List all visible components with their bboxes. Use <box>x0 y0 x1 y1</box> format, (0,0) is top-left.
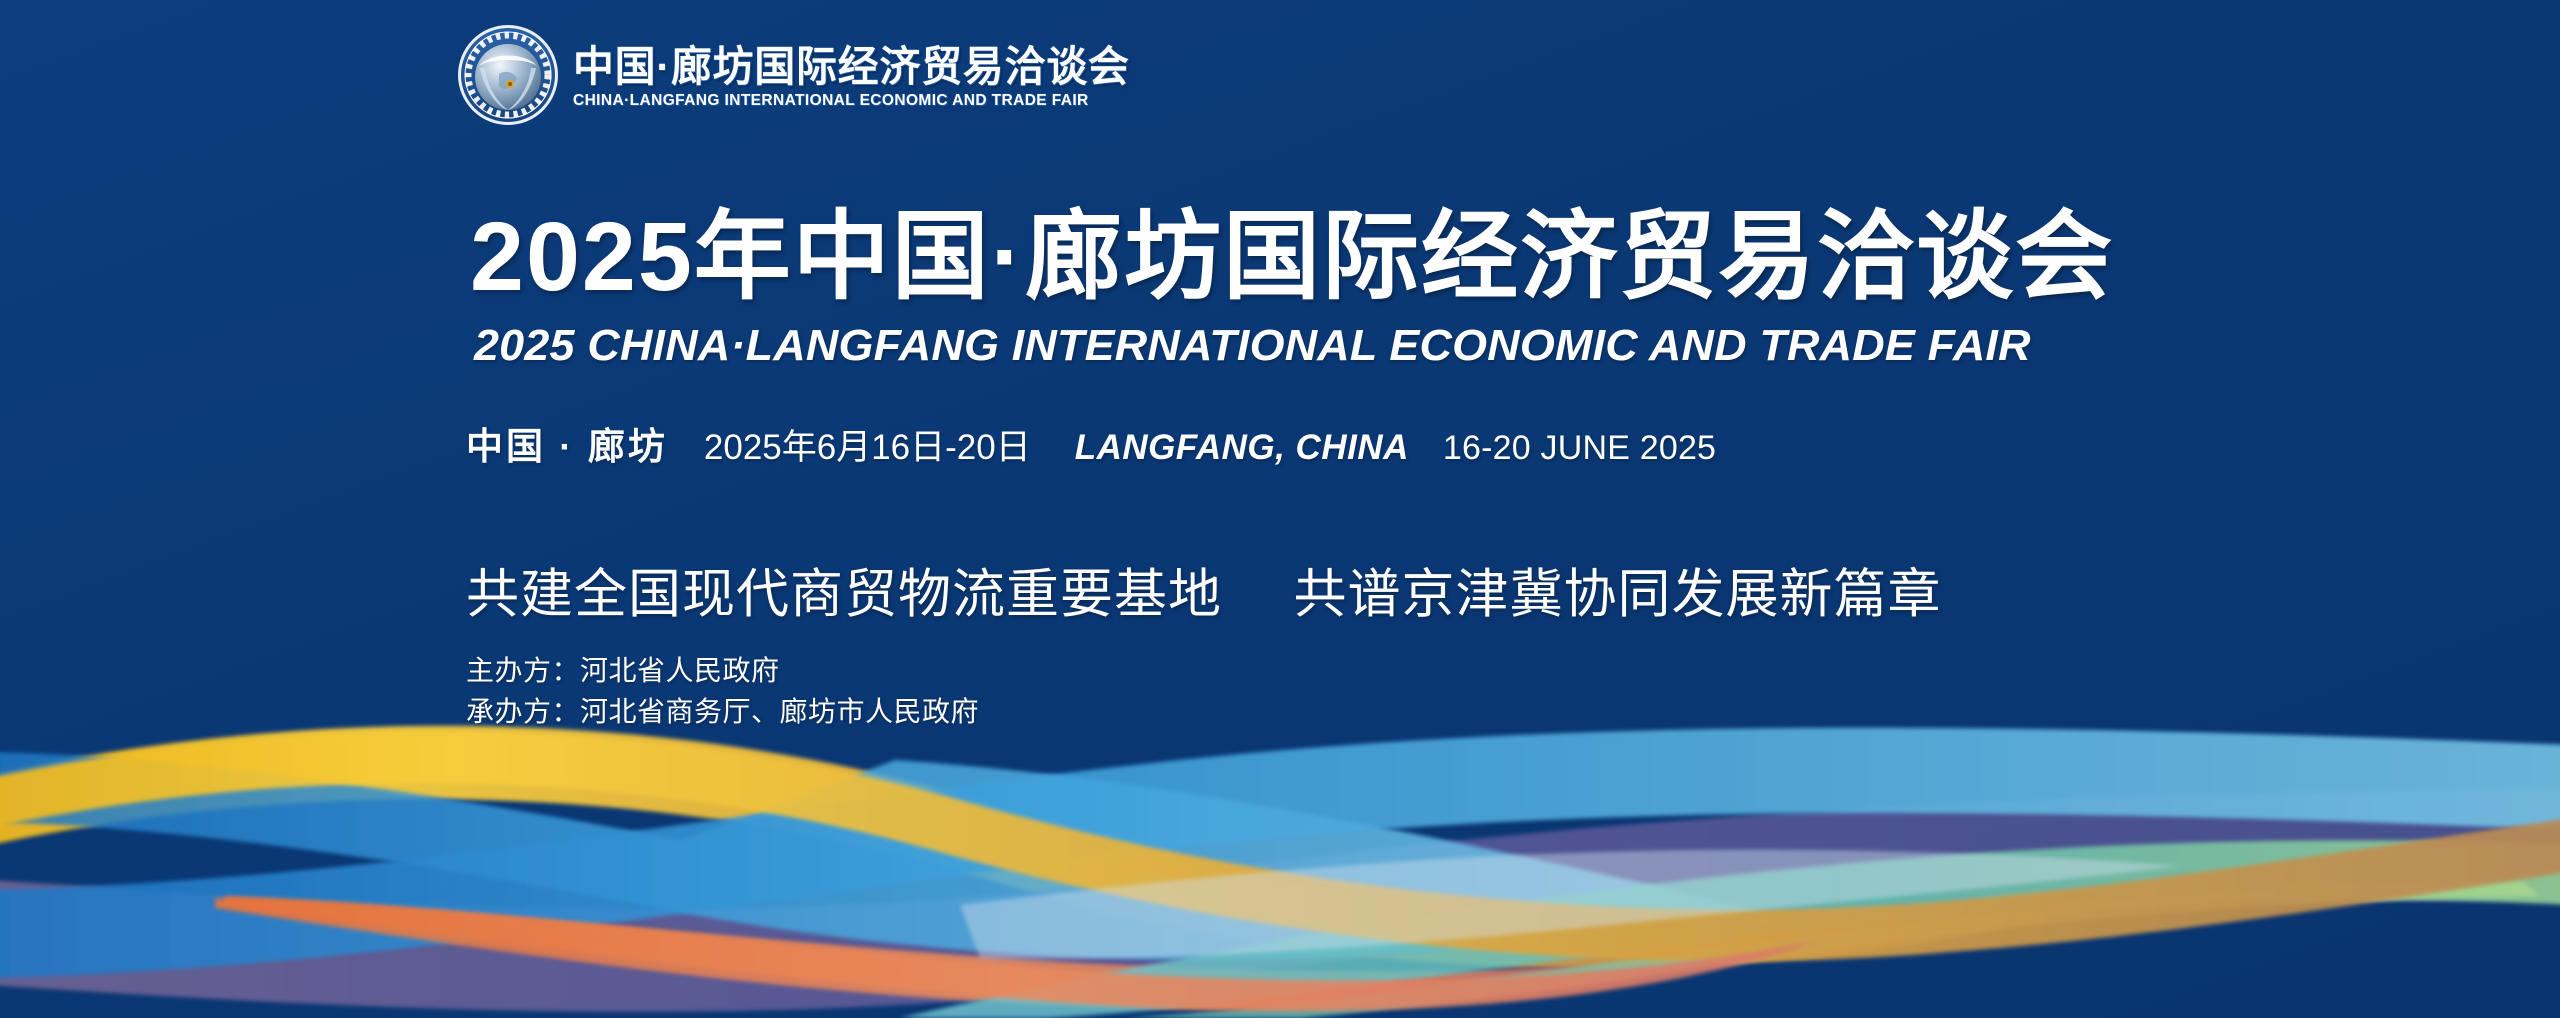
wave-blue-rise <box>0 728 2560 978</box>
wave-ribbon-group <box>0 728 2560 1018</box>
wave-teal <box>900 840 2560 1018</box>
wave-blue-sweep <box>0 770 2560 1018</box>
meta-city-chinese: 中国 · 廊坊 <box>466 416 668 470</box>
wave-green-sliver <box>1120 880 2540 1018</box>
event-meta-line: 中国 · 廊坊 2025年6月16日-20日 LANGFANG, CHINA 1… <box>466 416 1716 470</box>
wave-blue-band <box>880 765 2560 1018</box>
organizer-row: 主办方：河北省人民政府 <box>466 650 979 691</box>
organizer-block: 主办方：河北省人民政府 承办方：河北省商务厅、廊坊市人民政府 <box>466 650 979 733</box>
wave-blue <box>0 790 2560 1018</box>
logo-chinese-name: 中国·廊坊国际经济贸易洽谈会 <box>573 45 1130 89</box>
fair-logo-lockup: 中国·廊坊国际经济贸易洽谈会 CHINA·LANGFANG INTERNATIO… <box>455 22 1147 128</box>
meta-city-english: LANGFANG, CHINA <box>1075 428 1409 468</box>
page-title-english: 2025 CHINA·LANGFANG INTERNATIONAL ECONOM… <box>474 322 2031 370</box>
logo-wordmark: 中国·廊坊国际经济贸易洽谈会 CHINA·LANGFANG INTERNATIO… <box>573 41 1147 109</box>
organizer-label: 主办方： <box>466 655 580 686</box>
meta-date-english: 16-20 JUNE 2025 <box>1443 429 1716 468</box>
organizer-row: 承办方：河北省商务厅、廊坊市人民政府 <box>466 691 979 732</box>
event-banner: 中国·廊坊国际经济贸易洽谈会 CHINA·LANGFANG INTERNATIO… <box>0 0 2560 1018</box>
meta-date-chinese: 2025年6月16日-20日 <box>704 419 1031 470</box>
page-title-chinese: 2025年中国·廊坊国际经济贸易洽谈会 <box>470 205 2114 310</box>
event-slogan: 共建全国现代商贸物流重要基地 共谱京津冀协同发展新篇章 <box>466 552 1941 628</box>
wave-blue-main <box>0 752 1760 960</box>
decorative-wave-graphics <box>0 0 2560 1018</box>
slogan-part-1: 共建全国现代商贸物流重要基地 <box>466 565 1222 624</box>
wave-orange-slim <box>225 896 1820 1011</box>
wave-gold <box>0 726 2100 968</box>
organizer-value: 河北省商务厅、廊坊市人民政府 <box>580 696 979 727</box>
globe-emblem-icon <box>455 22 561 128</box>
organizer-label: 承办方： <box>466 696 580 727</box>
organizer-value: 河北省人民政府 <box>580 655 780 686</box>
slogan-part-2: 共谱京津冀协同发展新篇章 <box>1293 565 1941 624</box>
wave-purple <box>0 790 2560 1012</box>
wave-orange <box>215 898 1760 1008</box>
wave-highlight-overlap <box>960 850 2180 959</box>
logo-english-name: CHINA·LANGFANG INTERNATIONAL ECONOMIC AN… <box>573 92 1147 109</box>
wave-cyan <box>0 845 2560 1018</box>
wave-gold-main <box>0 732 2560 962</box>
